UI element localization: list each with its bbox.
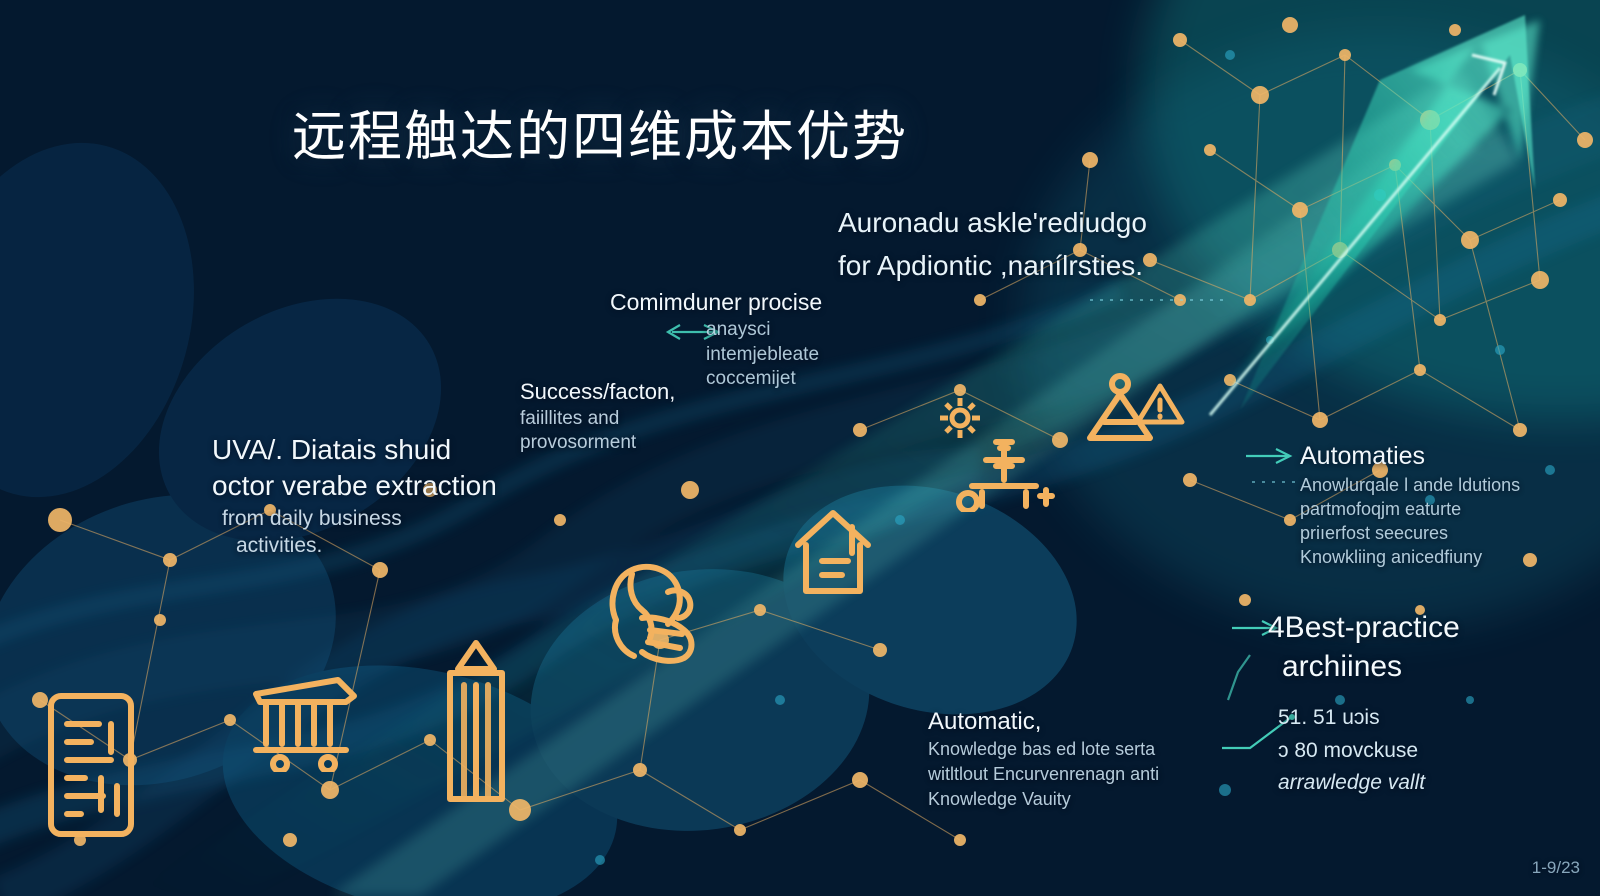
stats-text-block: 51. 51 uɔis ɔ 80 movckuse arrawledge val…	[1278, 702, 1538, 800]
document-list-icon	[45, 690, 137, 840]
left-text-block: UVA/. Diatais shuid octor verabe extract…	[212, 432, 512, 559]
middle-line-1: anaysci	[610, 318, 860, 343]
best-practice-line-2: archiines	[1268, 647, 1528, 686]
page-title: 远程触达的四维成本优势	[292, 92, 908, 171]
automatic-line-2: witltlout Encurvenrenagn anti	[928, 762, 1188, 787]
stats-line-2: ɔ 80 movckuse	[1278, 735, 1538, 768]
stats-line-1: 51. 51 uɔis	[1278, 702, 1538, 735]
automaties-text-block: Automaties Anowlurqale l ande ldutions p…	[1300, 440, 1540, 570]
left-line-2: from daily business	[212, 505, 512, 532]
success-text-block: Success/facton, faiillites and provosorm…	[520, 378, 740, 456]
middle-line-2: intemjebleate	[610, 343, 860, 368]
automatic-heading: Automatic,	[928, 706, 1188, 737]
automaties-heading: Automaties	[1300, 440, 1540, 473]
left-line-3: activities.	[212, 532, 512, 559]
house-document-icon	[792, 505, 874, 597]
success-line-1: faiillites and	[520, 407, 740, 432]
automatic-text-block: Automatic, Knowledge bas ed lote serta w…	[928, 706, 1188, 812]
best-practice-line-1: 4Best-practice	[1268, 608, 1528, 647]
automatic-line-1: Knowledge bas ed lote serta	[928, 737, 1188, 762]
warning-triangle-icon	[1134, 380, 1186, 428]
automaties-line-2: partmofoqjm eaturte	[1300, 497, 1540, 521]
hand-gesture-icon	[598, 558, 706, 668]
stats-line-3: arrawledge vallt	[1278, 767, 1538, 800]
bank-cart-icon	[250, 672, 360, 772]
hero-text-block: Auronadu askle'rediudgo for Apdiontic ,n…	[838, 202, 1228, 287]
microscope-icon	[952, 438, 1060, 512]
automaties-line-3: priıerfost seecures	[1300, 521, 1540, 545]
page-indicator: 1-9/23	[1532, 858, 1580, 878]
automatic-line-3: Knowledge Vauity	[928, 787, 1188, 812]
automaties-line-1: Anowlurqale l ande ldutions	[1300, 473, 1540, 497]
growth-arrow-icon	[1180, 0, 1600, 420]
automaties-line-4: Knowkliing anicedfiuny	[1300, 545, 1540, 569]
best-practice-text-block: 4Best-practice archiines	[1268, 608, 1528, 686]
hero-line-2: for Apdiontic ,nanílrsties.	[838, 245, 1228, 288]
gear-icon	[938, 396, 982, 440]
slide-canvas: 远程触达的四维成本优势 Auronadu askle'rediudgo for …	[0, 0, 1600, 896]
success-heading: Success/facton,	[520, 378, 740, 407]
middle-heading: Comimduner procise	[610, 288, 860, 318]
hero-line-1: Auronadu askle'rediudgo	[838, 202, 1228, 245]
tower-building-icon	[440, 625, 512, 805]
left-line-1: octor verabe extraction	[212, 468, 512, 504]
success-line-2: provosorment	[520, 431, 740, 456]
middle-text-block: Comimduner procise anaysci intemjebleate…	[610, 288, 860, 392]
left-heading: UVA/. Diatais shuid	[212, 432, 512, 468]
